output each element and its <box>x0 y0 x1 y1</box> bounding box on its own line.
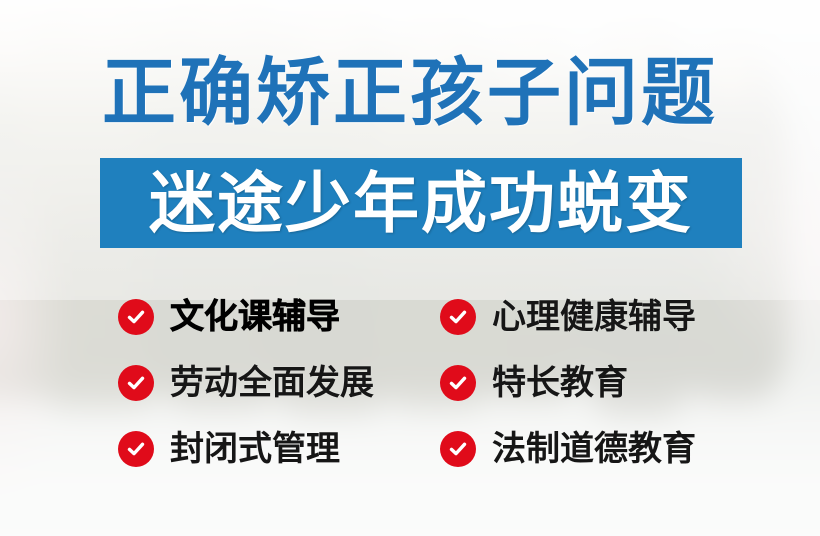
feature-item-5[interactable]: 封闭式管理 <box>118 416 426 482</box>
feature-item-3[interactable]: 劳动全面发展 <box>118 350 426 416</box>
feature-label: 文化课辅导 <box>170 300 340 334</box>
subtitle: 迷途少年成功蜕变 <box>149 170 693 236</box>
check-circle-icon <box>118 299 154 335</box>
promotional-banner: 正确矫正孩子问题 迷途少年成功蜕变 文化课辅导 心理健康辅导 <box>0 0 820 536</box>
check-circle-icon <box>118 365 154 401</box>
feature-label: 封闭式管理 <box>170 432 340 466</box>
feature-label: 法制道德教育 <box>492 432 696 466</box>
banner-content: 正确矫正孩子问题 迷途少年成功蜕变 文化课辅导 心理健康辅导 <box>0 0 820 536</box>
check-circle-icon <box>440 365 476 401</box>
feature-item-4[interactable]: 特长教育 <box>440 350 748 416</box>
feature-item-1[interactable]: 文化课辅导 <box>118 284 426 350</box>
headline: 正确矫正孩子问题 <box>0 56 820 130</box>
check-circle-icon <box>440 431 476 467</box>
feature-item-6[interactable]: 法制道德教育 <box>440 416 748 482</box>
feature-list: 文化课辅导 心理健康辅导 劳动全面发展 <box>118 284 758 482</box>
subtitle-band: 迷途少年成功蜕变 <box>100 158 742 248</box>
feature-label: 特长教育 <box>492 366 628 400</box>
check-circle-icon <box>118 431 154 467</box>
feature-label: 劳动全面发展 <box>170 366 374 400</box>
feature-label: 心理健康辅导 <box>492 300 696 334</box>
check-circle-icon <box>440 299 476 335</box>
feature-item-2[interactable]: 心理健康辅导 <box>440 284 748 350</box>
